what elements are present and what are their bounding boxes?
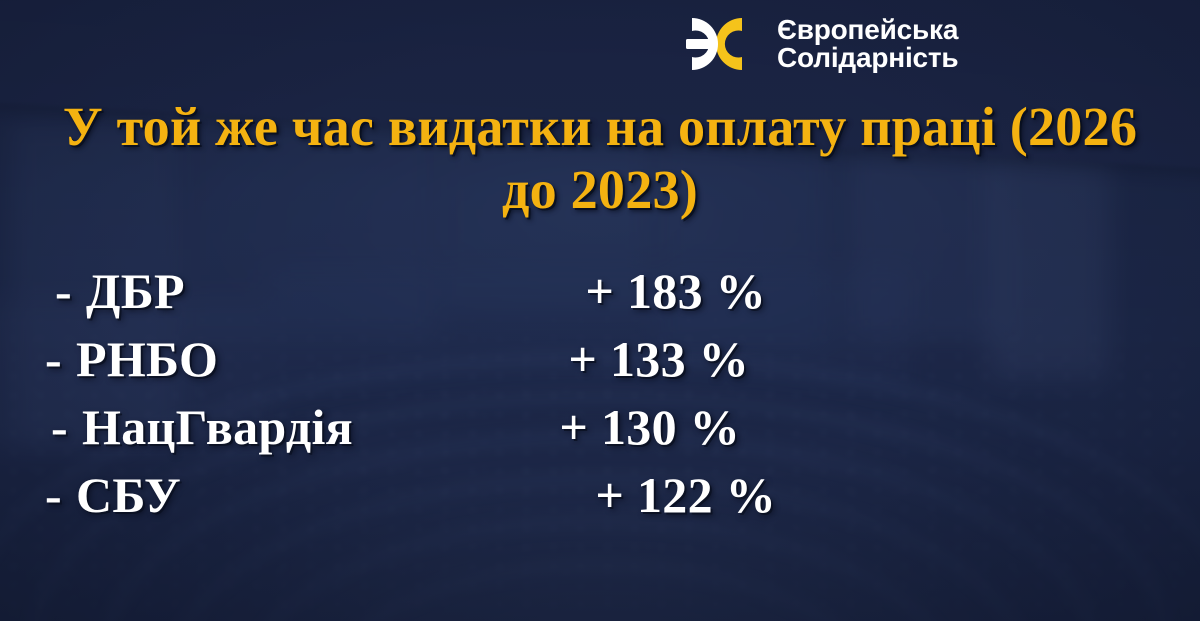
party-logo[interactable]: Європейська Солідарність (664, 14, 958, 74)
list-item: - СБУ + 122 % (0, 466, 840, 534)
list-item-value: + 122 % (181, 466, 840, 524)
logo-wordmark: Європейська Солідарність (777, 16, 958, 71)
list-item-value: + 130 % (353, 398, 840, 456)
list-item-value: + 183 % (185, 262, 840, 320)
list-item-label: СБУ (62, 466, 181, 524)
page-title: У той же час видатки на оплату праці (20… (9, 96, 1191, 221)
infographic-slide: Європейська Солідарність У той же час ви… (0, 0, 1200, 621)
list-item-value: + 133 % (218, 330, 840, 388)
logo-monogram-ec-icon (664, 14, 768, 74)
list-item-bullet: - (0, 466, 62, 524)
logo-name-line-2: Солідарність (777, 44, 958, 72)
list-item: - НацГвардія + 130 % (0, 398, 840, 466)
list-item: - ДБР + 183 % (0, 262, 840, 330)
list-item-bullet: - (0, 262, 72, 320)
stats-list: - ДБР + 183 % - РНБО + 133 % - НацГварді… (0, 262, 840, 534)
list-item-bullet: - (0, 330, 62, 388)
list-item-label: ДБР (72, 262, 185, 320)
list-item-label: РНБО (62, 330, 218, 388)
list-item-bullet: - (0, 398, 68, 456)
logo-name-line-1: Європейська (777, 16, 958, 44)
list-item-label: НацГвардія (68, 398, 353, 456)
list-item: - РНБО + 133 % (0, 330, 840, 398)
